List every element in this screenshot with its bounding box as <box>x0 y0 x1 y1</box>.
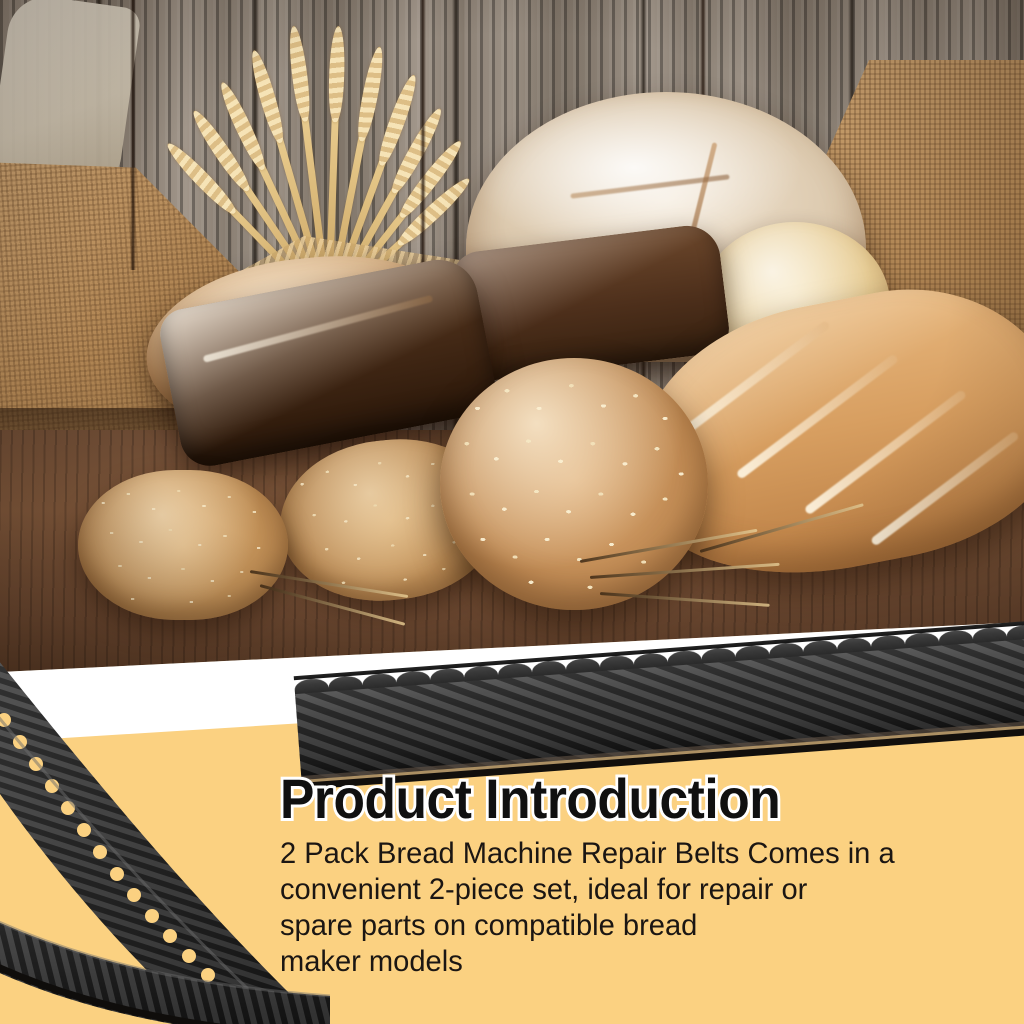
table-plank-seam <box>420 0 426 270</box>
bread-photograph <box>0 0 1024 700</box>
description-line-4: maker models <box>280 945 463 978</box>
page-title: Product Introduction <box>280 768 961 830</box>
description-line-1: 2 Pack Bread Machine Repair Belts Comes … <box>280 837 895 870</box>
product-description: 2 Pack Bread Machine Repair Belts Comes … <box>280 836 959 980</box>
product-introduction-poster: Product Introduction 2 Pack Bread Machin… <box>0 0 1024 1024</box>
description-line-2: convenient 2-piece set, ideal for repair… <box>280 873 807 906</box>
hero-photo <box>0 0 1024 700</box>
text-block: Product Introduction 2 Pack Bread Machin… <box>280 768 1020 980</box>
table-plank-seam <box>130 0 136 270</box>
description-line-3: spare parts on compatible bread <box>280 909 697 942</box>
linen-cloth <box>0 0 142 188</box>
